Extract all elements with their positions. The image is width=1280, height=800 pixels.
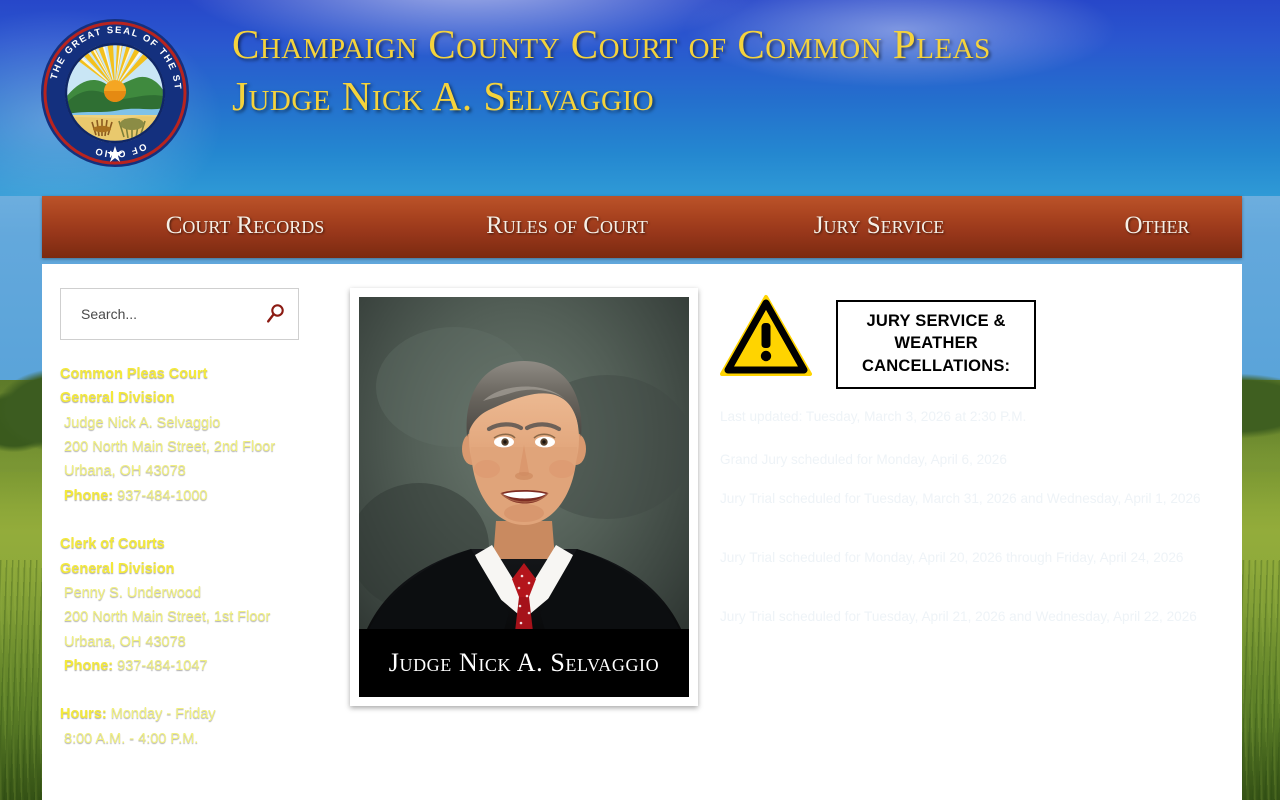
notice-title-line3: CANCELLATIONS: bbox=[862, 355, 1010, 377]
notice-entry: Jury Trial scheduled for Tuesday, March … bbox=[720, 489, 1210, 530]
nav-item-rules-of-court[interactable]: Rules of Court bbox=[442, 212, 692, 240]
search-input[interactable] bbox=[79, 305, 264, 323]
jury-notice-section: JURY SERVICE & WEATHER CANCELLATIONS: La… bbox=[720, 294, 1210, 667]
header-title-group: Champaign County Court of Common Pleas J… bbox=[232, 22, 1232, 119]
site-header: THE GREAT SEAL OF THE STATE OF OHIO Cham… bbox=[0, 0, 1280, 196]
notice-title-line1: JURY SERVICE & bbox=[862, 310, 1010, 332]
common-pleas-phone-label: Phone: bbox=[64, 488, 113, 504]
notice-entry-text: Jury Trial scheduled for Tuesday, March … bbox=[720, 491, 1201, 506]
common-pleas-address-line2: Urbana, OH 43078 bbox=[60, 459, 360, 483]
sidebar-spacer bbox=[60, 508, 360, 532]
search-icon[interactable] bbox=[264, 303, 286, 325]
notice-entry: Jury Trial scheduled for Tuesday, April … bbox=[720, 607, 1210, 648]
notice-entry: Grand Jury scheduled for Monday, April 6… bbox=[720, 450, 1210, 471]
notice-title-box: JURY SERVICE & WEATHER CANCELLATIONS: bbox=[836, 300, 1036, 389]
common-pleas-general-division: General Division bbox=[60, 386, 360, 410]
clerk-phone: Phone: 937-484-1047 bbox=[60, 654, 360, 678]
notice-body: Last updated: Tuesday, March 3, 2026 at … bbox=[720, 407, 1210, 648]
search-box[interactable] bbox=[60, 288, 299, 340]
info-block-hours: Hours: Monday - Friday 8:00 A.M. - 4:00 … bbox=[60, 702, 360, 751]
nav-item-jury-service[interactable]: Jury Service bbox=[754, 212, 1004, 240]
notice-title-line2: WEATHER bbox=[862, 332, 1010, 354]
judge-portrait-photo: Judge Nick A. Selvaggio bbox=[359, 297, 689, 697]
page-root: THE GREAT SEAL OF THE STATE OF OHIO Cham… bbox=[0, 0, 1280, 800]
hours-time: 8:00 A.M. - 4:00 P.M. bbox=[60, 727, 360, 751]
hours-label: Hours: bbox=[60, 706, 107, 722]
info-block-clerk-of-courts: Clerk of Courts General Division Penny S… bbox=[60, 532, 360, 678]
notice-entry-text: Grand Jury scheduled for Monday, April 6… bbox=[720, 452, 1011, 467]
content-panel: Common Pleas Court General Division Judg… bbox=[48, 270, 1236, 800]
notice-entry: Jury Trial scheduled for Monday, April 2… bbox=[720, 548, 1210, 589]
notice-entry-status: REMAINS AS SCHEDULED. bbox=[720, 571, 897, 586]
common-pleas-judge-name: Judge Nick A. Selvaggio bbox=[60, 411, 360, 435]
common-pleas-address-line1: 200 North Main Street, 2nd Floor bbox=[60, 435, 360, 459]
common-pleas-phone: Phone: 937-484-1000 bbox=[60, 484, 360, 508]
clerk-phone-label: Phone: bbox=[64, 658, 113, 674]
page-subtitle: Judge Nick A. Selvaggio bbox=[232, 74, 1232, 118]
portrait-caption: Judge Nick A. Selvaggio bbox=[359, 629, 689, 697]
notice-entry-text: Jury Trial scheduled for Tuesday, April … bbox=[720, 609, 1197, 624]
hours-row: Hours: Monday - Friday bbox=[60, 702, 360, 726]
page-title: Champaign County Court of Common Pleas bbox=[232, 22, 1232, 66]
clerk-general-division: General Division bbox=[60, 557, 360, 581]
notice-entry-text: Jury Trial scheduled for Monday, April 2… bbox=[720, 550, 1183, 565]
nav-item-other[interactable]: Other bbox=[1032, 212, 1280, 240]
nav-item-court-records[interactable]: Court Records bbox=[120, 212, 370, 240]
hours-days: Monday - Friday bbox=[111, 706, 216, 722]
notice-entry-status: REMAINS AS SCHEDULED. bbox=[720, 511, 897, 526]
ohio-state-seal-icon: THE GREAT SEAL OF THE STATE OF OHIO bbox=[40, 18, 190, 168]
info-block-common-pleas-court: Common Pleas Court General Division Judg… bbox=[60, 362, 360, 508]
clerk-phone-value: 937-484-1047 bbox=[117, 658, 207, 674]
common-pleas-phone-value: 937-484-1000 bbox=[117, 488, 207, 504]
clerk-address-line2: Urbana, OH 43078 bbox=[60, 630, 360, 654]
common-pleas-court-heading: Common Pleas Court bbox=[60, 362, 360, 386]
main-navigation: Court Records Rules of Court Jury Servic… bbox=[42, 196, 1242, 258]
clerk-of-courts-heading: Clerk of Courts bbox=[60, 532, 360, 556]
judge-portrait-frame: Judge Nick A. Selvaggio bbox=[350, 288, 698, 706]
notice-last-updated: Last updated: Tuesday, March 3, 2026 at … bbox=[720, 407, 1210, 428]
notice-header: JURY SERVICE & WEATHER CANCELLATIONS: bbox=[720, 294, 1210, 389]
portrait-caption-text: Judge Nick A. Selvaggio bbox=[389, 648, 660, 678]
sidebar: Common Pleas Court General Division Judg… bbox=[60, 288, 360, 751]
content-white-border: Common Pleas Court General Division Judg… bbox=[42, 264, 1242, 800]
warning-triangle-icon bbox=[720, 294, 812, 378]
sidebar-spacer-2 bbox=[60, 678, 360, 702]
notice-entry-status: REMAINS AS SCHEDULED. bbox=[1011, 452, 1188, 467]
clerk-address-line1: 200 North Main Street, 1st Floor bbox=[60, 605, 360, 629]
notice-entry-status: REMAINS AS SCHEDULED. bbox=[720, 630, 897, 645]
clerk-name: Penny S. Underwood bbox=[60, 581, 360, 605]
